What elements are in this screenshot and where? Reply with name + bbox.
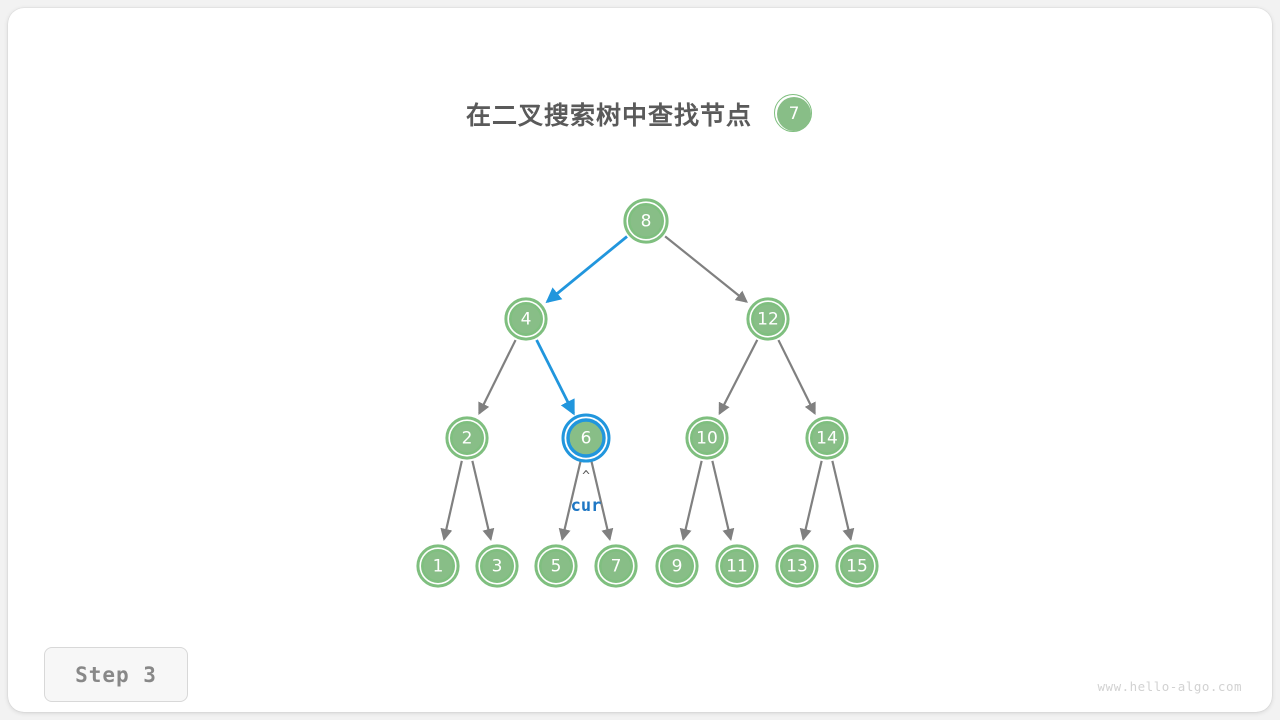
tree-node[interactable]: 8 xyxy=(627,202,665,240)
node-value: 9 xyxy=(672,557,683,577)
node-value: 3 xyxy=(492,557,503,577)
tree-node[interactable]: 10 xyxy=(689,420,725,456)
tree-edge xyxy=(683,461,701,539)
node-value: 5 xyxy=(551,557,562,577)
tree-node[interactable]: 3 xyxy=(479,548,515,584)
node-value: 12 xyxy=(757,310,779,330)
step-badge: Step 3 xyxy=(44,647,188,702)
tree-node[interactable]: 9 xyxy=(659,548,695,584)
node-value: 15 xyxy=(846,557,868,577)
tree-edge xyxy=(444,461,462,539)
tree-edge xyxy=(803,461,821,539)
node-value: 2 xyxy=(462,429,473,449)
pointer-label: cur xyxy=(571,496,602,516)
tree-node[interactable]: 6 xyxy=(563,415,609,461)
tree-edge xyxy=(665,236,746,301)
tree-edge xyxy=(472,461,490,539)
tree-node[interactable]: 14 xyxy=(809,420,845,456)
node-value: 4 xyxy=(521,310,532,330)
diagram-card: 在二叉搜索树中查找节点 7 841226101413579111315 ^ cu… xyxy=(8,8,1272,712)
node-value: 11 xyxy=(726,557,748,577)
tree-edge xyxy=(712,461,730,539)
tree-edge xyxy=(537,340,574,413)
pointer-marker: ^ cur xyxy=(571,469,602,516)
node-value: 10 xyxy=(696,429,718,449)
tree-node[interactable]: 7 xyxy=(598,548,634,584)
node-value: 6 xyxy=(581,429,592,449)
pointer-caret: ^ xyxy=(582,469,590,484)
node-value: 14 xyxy=(816,429,838,449)
node-value: 13 xyxy=(786,557,808,577)
edge-layer xyxy=(444,236,851,539)
tree-edge xyxy=(547,236,627,301)
binary-search-tree: 841226101413579111315 ^ cur xyxy=(8,8,1272,712)
tree-node[interactable]: 5 xyxy=(538,548,574,584)
tree-edge xyxy=(720,340,758,414)
tree-node[interactable]: 15 xyxy=(839,548,875,584)
tree-node[interactable]: 12 xyxy=(750,301,786,337)
tree-node[interactable]: 1 xyxy=(420,548,456,584)
watermark: www.hello-algo.com xyxy=(1098,679,1242,694)
tree-node[interactable]: 11 xyxy=(719,548,755,584)
tree-node[interactable]: 4 xyxy=(508,301,544,337)
step-label: Step 3 xyxy=(75,663,157,687)
tree-edge xyxy=(778,340,814,413)
node-value: 1 xyxy=(433,557,444,577)
tree-edge xyxy=(832,461,850,539)
tree-node[interactable]: 13 xyxy=(779,548,815,584)
tree-edge xyxy=(479,340,515,413)
node-value: 8 xyxy=(641,212,652,232)
node-value: 7 xyxy=(611,557,622,577)
tree-node[interactable]: 2 xyxy=(449,420,485,456)
